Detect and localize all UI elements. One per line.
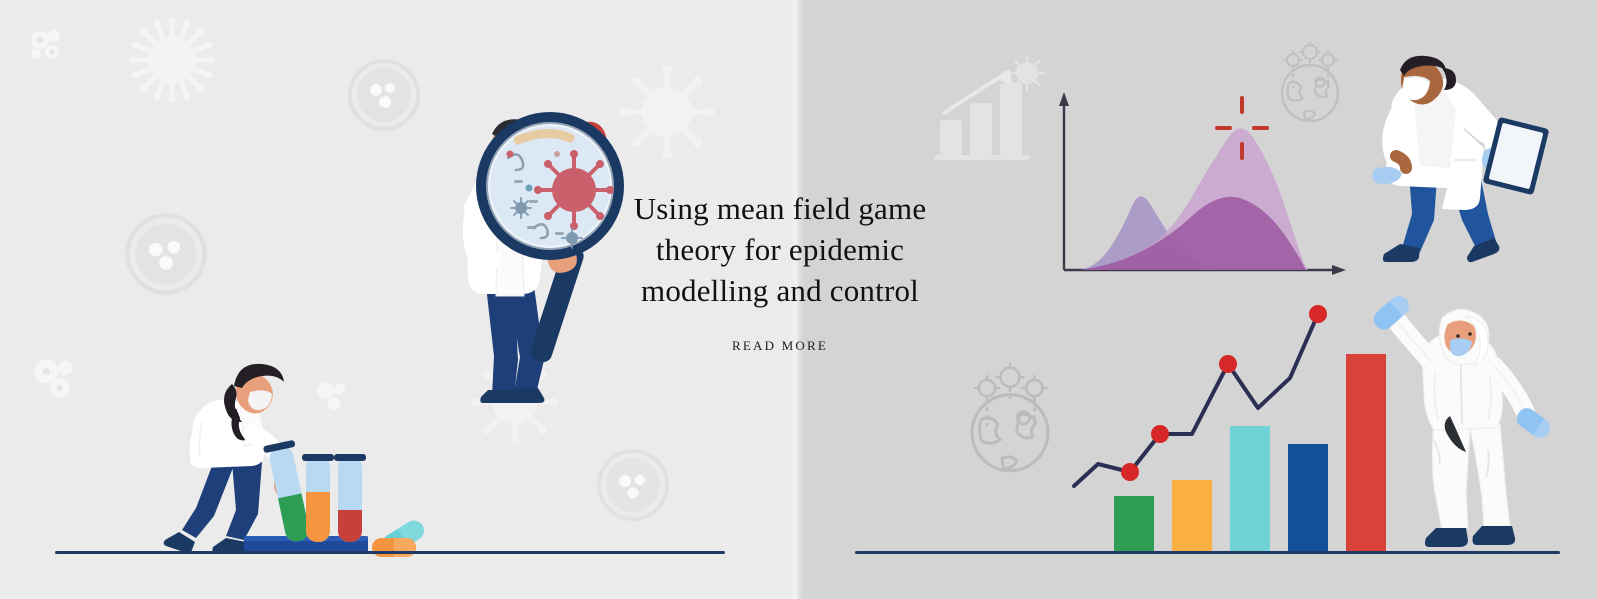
- epidemic-curve-area-chart: [1050, 88, 1350, 288]
- male-scientist-with-magnifying-glass: [378, 104, 618, 384]
- ground-line-right: [855, 551, 1560, 554]
- bar-4: [1288, 444, 1328, 552]
- growth-bar-chart-with-trend-line: [1068, 296, 1358, 552]
- promo-banner: Using mean field game theory for epidemi…: [0, 0, 1597, 599]
- bar-series: [1114, 354, 1386, 552]
- bar-1: [1114, 496, 1154, 552]
- doctor-with-tablet: [1352, 56, 1562, 271]
- page-title-line-3: modelling and control: [560, 270, 1000, 311]
- page-title-line-1: Using mean field game: [560, 188, 1000, 229]
- bar-2: [1172, 480, 1212, 552]
- read-more-link[interactable]: READ MORE: [560, 338, 1000, 354]
- page-title: Using mean field game theory for epidemi…: [560, 188, 1000, 311]
- y-axis-arrow: [1059, 92, 1069, 106]
- page-title-line-2: theory for epidemic: [560, 229, 1000, 270]
- female-lab-technician-with-test-tubes: [148, 362, 448, 558]
- x-axis-arrow: [1332, 265, 1346, 275]
- hazmat-suited-worker-pointing: [1376, 300, 1576, 552]
- ground-line-left: [55, 551, 725, 554]
- trend-line: [1074, 314, 1318, 486]
- bar-3: [1230, 426, 1270, 552]
- magnifier-lens: [482, 118, 618, 254]
